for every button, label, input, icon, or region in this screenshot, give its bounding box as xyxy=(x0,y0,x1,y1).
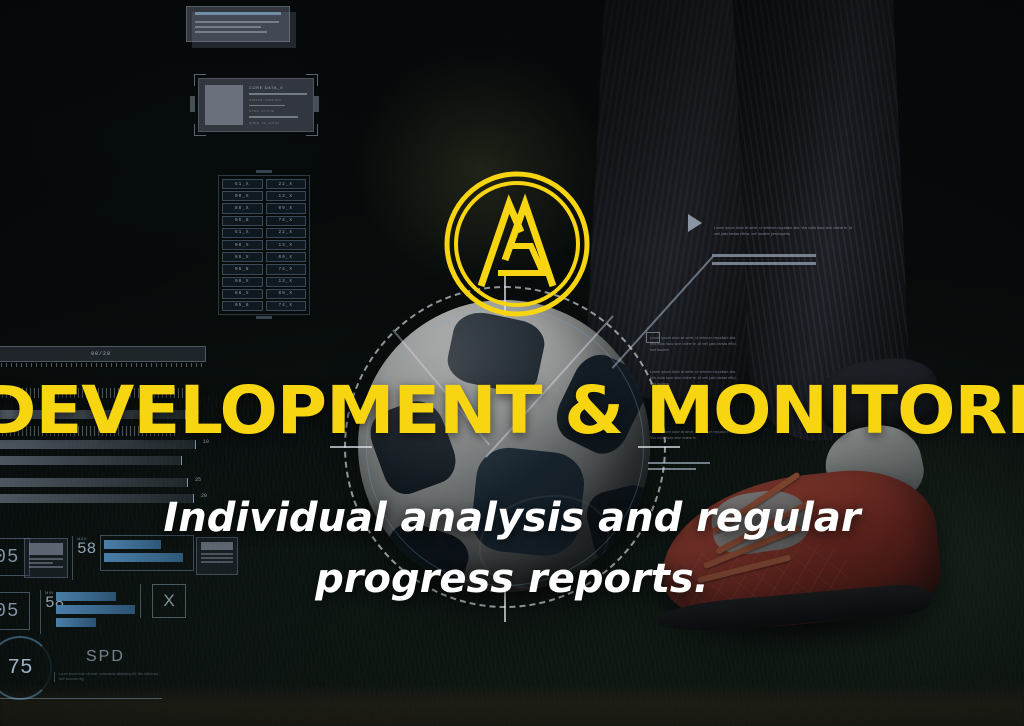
table-row: 00_X13_X xyxy=(222,277,306,287)
placeholder-line xyxy=(195,26,261,28)
promo-banner: CORE DATA_X STATUS: NOMINAL SYNC: ACTIVE… xyxy=(0,0,1024,726)
hud-bar xyxy=(56,618,96,627)
bars-panel-header: 00/20 xyxy=(0,346,206,362)
table-row: 05_874_X xyxy=(222,264,306,274)
hud-data-table: 51_X22_X00_X13_X88_X09_X05_874_X51_X22_X… xyxy=(218,175,310,315)
callout-arrow-icon xyxy=(688,214,702,232)
page-title: DEVELOPMENT & MONITORING xyxy=(0,378,1024,444)
table-cell: 74_X xyxy=(266,301,307,311)
table-cell: 05_8 xyxy=(222,301,263,311)
callout-text: Lorem ipsum dolor sit amet, ut veterum r… xyxy=(650,336,742,353)
hud-info-card xyxy=(186,6,290,42)
divider xyxy=(0,698,162,699)
table-cell: 09_X xyxy=(266,203,307,213)
speed-gauge: 75 xyxy=(0,636,52,700)
table-cell: 88_X xyxy=(222,252,263,262)
core-data-bar xyxy=(249,93,307,95)
table-cell: 13_X xyxy=(266,240,307,250)
subtitle-line-1: Individual analysis and regular xyxy=(0,488,1024,549)
panel-side-tab xyxy=(314,96,319,112)
table-cell: 22_X xyxy=(266,179,307,189)
callout-text: Lorem ipsum dolor sit amet, ut veterum r… xyxy=(714,226,858,238)
table-cell: 74_X xyxy=(266,216,307,226)
table-row: 05_874_X xyxy=(222,301,306,311)
core-data-thumbnail xyxy=(205,85,243,125)
table-row: 00_X13_X xyxy=(222,191,306,201)
table-cell: 51_X xyxy=(222,228,263,238)
table-cell: 00_X xyxy=(222,240,263,250)
ma-monogram-logo xyxy=(443,170,591,318)
table-nub xyxy=(256,316,272,319)
table-row: 88_X09_X xyxy=(222,289,306,299)
table-row: 88_X09_X xyxy=(222,203,306,213)
subtitle-line-2: progress reports. xyxy=(0,549,1024,610)
table-row: 05_874_X xyxy=(222,216,306,226)
table-cell: 88_X xyxy=(222,203,263,213)
table-cell: 88_X xyxy=(222,289,263,299)
panel-side-tab xyxy=(190,96,195,112)
hud-overlay: CORE DATA_X STATUS: NOMINAL SYNC: ACTIVE… xyxy=(0,0,1024,726)
core-data-sub: NODE: 04_ALPHA xyxy=(249,121,307,125)
placeholder-line xyxy=(195,21,279,23)
hud-hbar: 25 xyxy=(0,478,188,487)
table-cell: 13_X xyxy=(266,191,307,201)
callout-bar xyxy=(712,262,816,265)
table-row: 51_X22_X xyxy=(222,228,306,238)
callout-bar xyxy=(712,254,816,257)
table-cell: 74_X xyxy=(266,264,307,274)
table-cell: 00_X xyxy=(222,191,263,201)
hud-info-card-lines xyxy=(195,21,279,33)
page-subtitle: Individual analysis and regular progress… xyxy=(0,488,1024,610)
table-cell: 22_X xyxy=(266,228,307,238)
table-cell: 13_X xyxy=(266,277,307,287)
table-row: 88_X09_X xyxy=(222,252,306,262)
core-data-bar xyxy=(249,105,285,107)
bars-panel-ruler xyxy=(0,363,206,367)
speed-gauge-label: SPD xyxy=(86,648,125,666)
placeholder-line xyxy=(195,31,267,33)
table-row: 00_X13_X xyxy=(222,240,306,250)
table-cell: 05_8 xyxy=(222,264,263,274)
core-data-sub: SYNC: ACTIVE xyxy=(249,109,307,113)
table-row: 51_X22_X xyxy=(222,179,306,189)
core-data-bar xyxy=(249,116,298,118)
table-cell: 09_X xyxy=(266,289,307,299)
speed-gauge-note: Lorem ipsum dolor sit amet, consectetur … xyxy=(54,672,164,682)
table-nub xyxy=(256,170,272,173)
table-cell: 09_X xyxy=(266,252,307,262)
hbar-label: 25 xyxy=(195,477,201,483)
hud-hbar xyxy=(0,456,182,465)
table-cell: 51_X xyxy=(222,179,263,189)
core-data-panel: CORE DATA_X STATUS: NOMINAL SYNC: ACTIVE… xyxy=(198,78,314,132)
core-data-title: CORE DATA_X xyxy=(249,85,307,90)
table-cell: 00_X xyxy=(222,277,263,287)
core-data-fields: CORE DATA_X STATUS: NOMINAL SYNC: ACTIVE… xyxy=(249,85,307,125)
table-cell: 05_8 xyxy=(222,216,263,226)
core-data-sub: STATUS: NOMINAL xyxy=(249,98,307,102)
